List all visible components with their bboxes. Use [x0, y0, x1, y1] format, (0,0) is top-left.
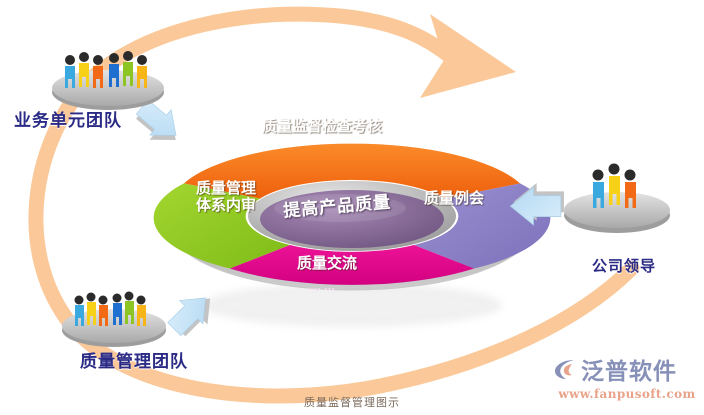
node-company-leadership [564, 164, 670, 234]
fanpu-logo-icon [552, 356, 578, 382]
label-business-unit-team: 业务单元团队 [14, 106, 122, 131]
segment-label-top: 质量监督检查考核 [262, 118, 382, 135]
label-company-leadership: 公司领导 [592, 255, 656, 276]
watermark-brand: 泛普软件 [581, 352, 677, 386]
node-quality-management-team [62, 292, 166, 348]
diagram-canvas: 业务单元团队 质量管理团队 公司领导 质量监督检查考核 质量管理 体系内审 质量… [0, 0, 704, 415]
segment-label-right: 质量例会 [424, 190, 484, 207]
label-quality-management-team: 质量管理团队 [80, 347, 188, 372]
watermark-url: www.fanpusoft.com [552, 387, 702, 401]
segment-label-left-line1: 质量管理 [196, 180, 256, 197]
segment-label-left: 质量管理 体系内审 [196, 180, 256, 214]
segment-label-left-line2: 体系内审 [196, 197, 256, 214]
segment-label-bottom-ellipsis: …… [310, 281, 338, 293]
segment-label-bottom: 质量交流 [297, 255, 357, 272]
watermark: 泛普软件 www.fanpusoft.com [552, 352, 702, 401]
